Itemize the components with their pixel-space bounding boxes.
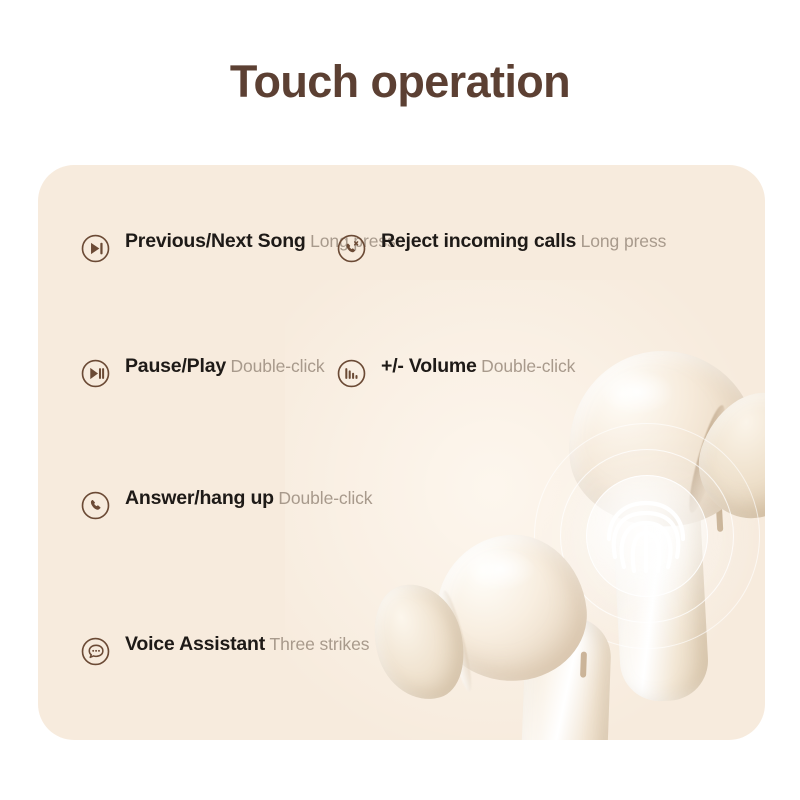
feature-item-pause-play[interactable]: Pause/Play Double-click [80,355,325,389]
features-card: Previous/Next Song Long press [38,165,765,740]
feature-label: Voice Assistant [125,633,265,655]
play-pause-icon [80,358,111,389]
earbud-front [372,525,642,740]
feature-item-answer-hang-up[interactable]: Answer/hang up Double-click [80,487,372,521]
skip-track-icon [80,233,111,264]
feature-gesture: Long press [581,231,667,251]
earbuds-product-image [338,255,765,740]
product-infographic: Touch operation Previous/Next Song Long … [0,0,800,800]
feature-label: Pause/Play [125,355,226,377]
feature-label: Reject incoming calls [381,230,576,252]
feature-gesture: Double-click [230,356,324,376]
answer-call-icon [80,490,111,521]
earbud-front-mic-slot [580,652,587,678]
feature-label: Answer/hang up [125,487,274,509]
feature-item-voice-assistant[interactable]: Voice Assistant Three strikes [80,633,369,667]
voice-assistant-icon [80,636,111,667]
page-title: Touch operation [0,57,800,107]
feature-label: Previous/Next Song [125,230,306,252]
